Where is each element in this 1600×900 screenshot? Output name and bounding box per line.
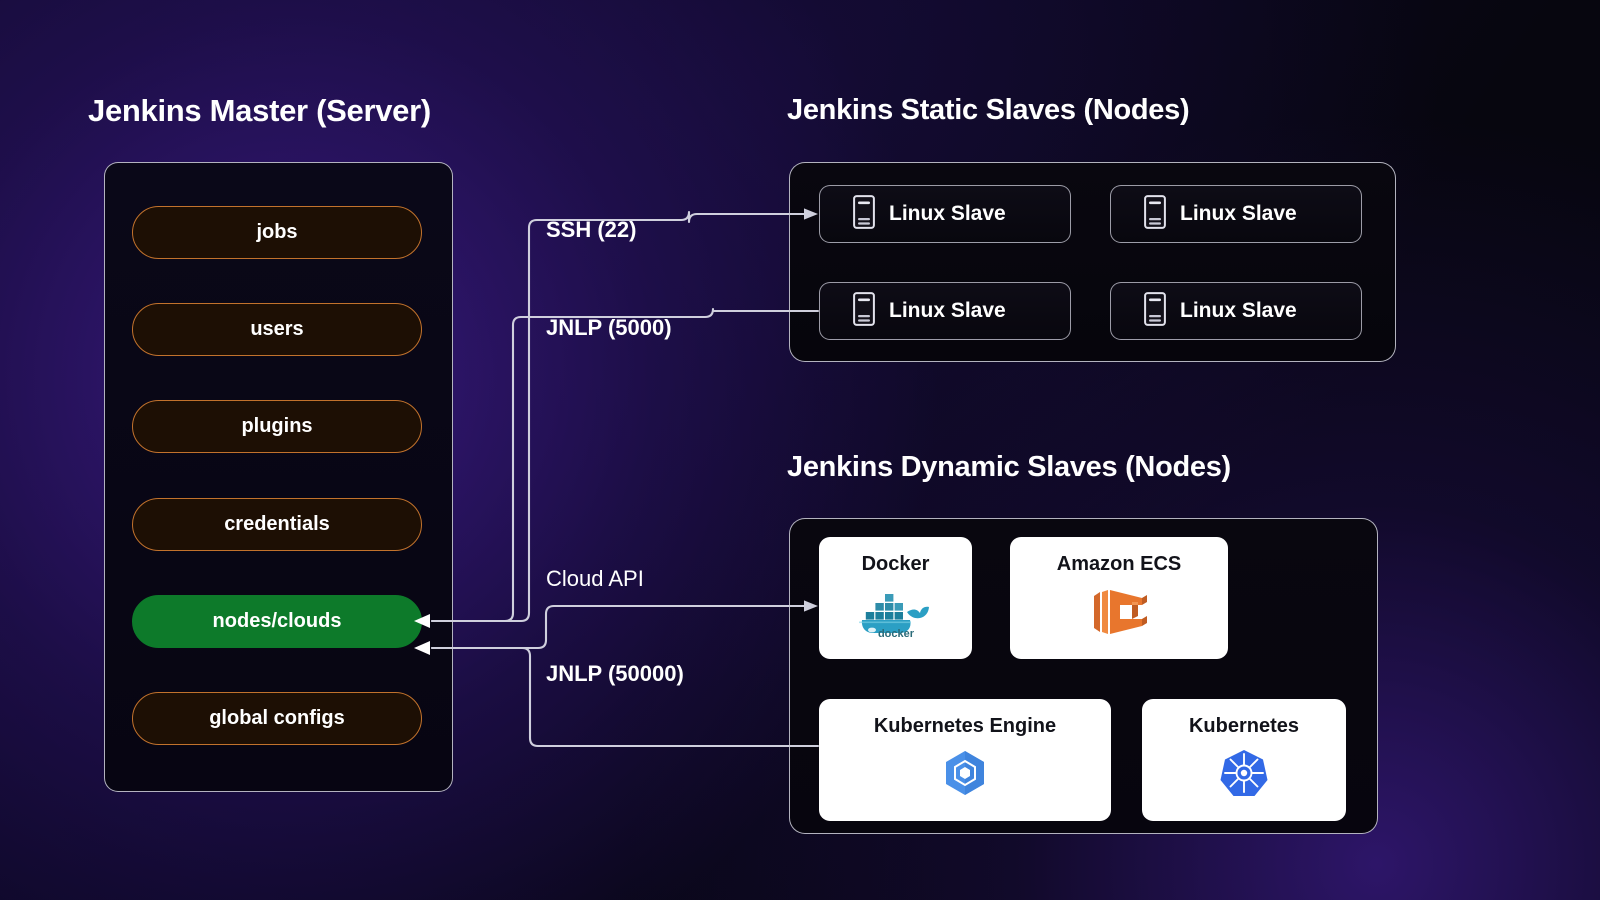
connection-wires	[0, 0, 1600, 900]
diagram-canvas: Jenkins Master (Server) Jenkins Static S…	[0, 0, 1600, 900]
arrowhead-nodes-clouds-lower	[414, 641, 430, 655]
wire-jnlp-5000	[432, 309, 818, 621]
arrowhead-ssh	[804, 208, 818, 219]
arrowhead-cloud-api	[804, 600, 818, 611]
arrowhead-nodes-clouds-upper	[414, 614, 430, 628]
wire-jnlp-50000	[432, 648, 818, 746]
wire-cloud-api	[432, 606, 808, 648]
wire-ssh	[432, 212, 808, 621]
